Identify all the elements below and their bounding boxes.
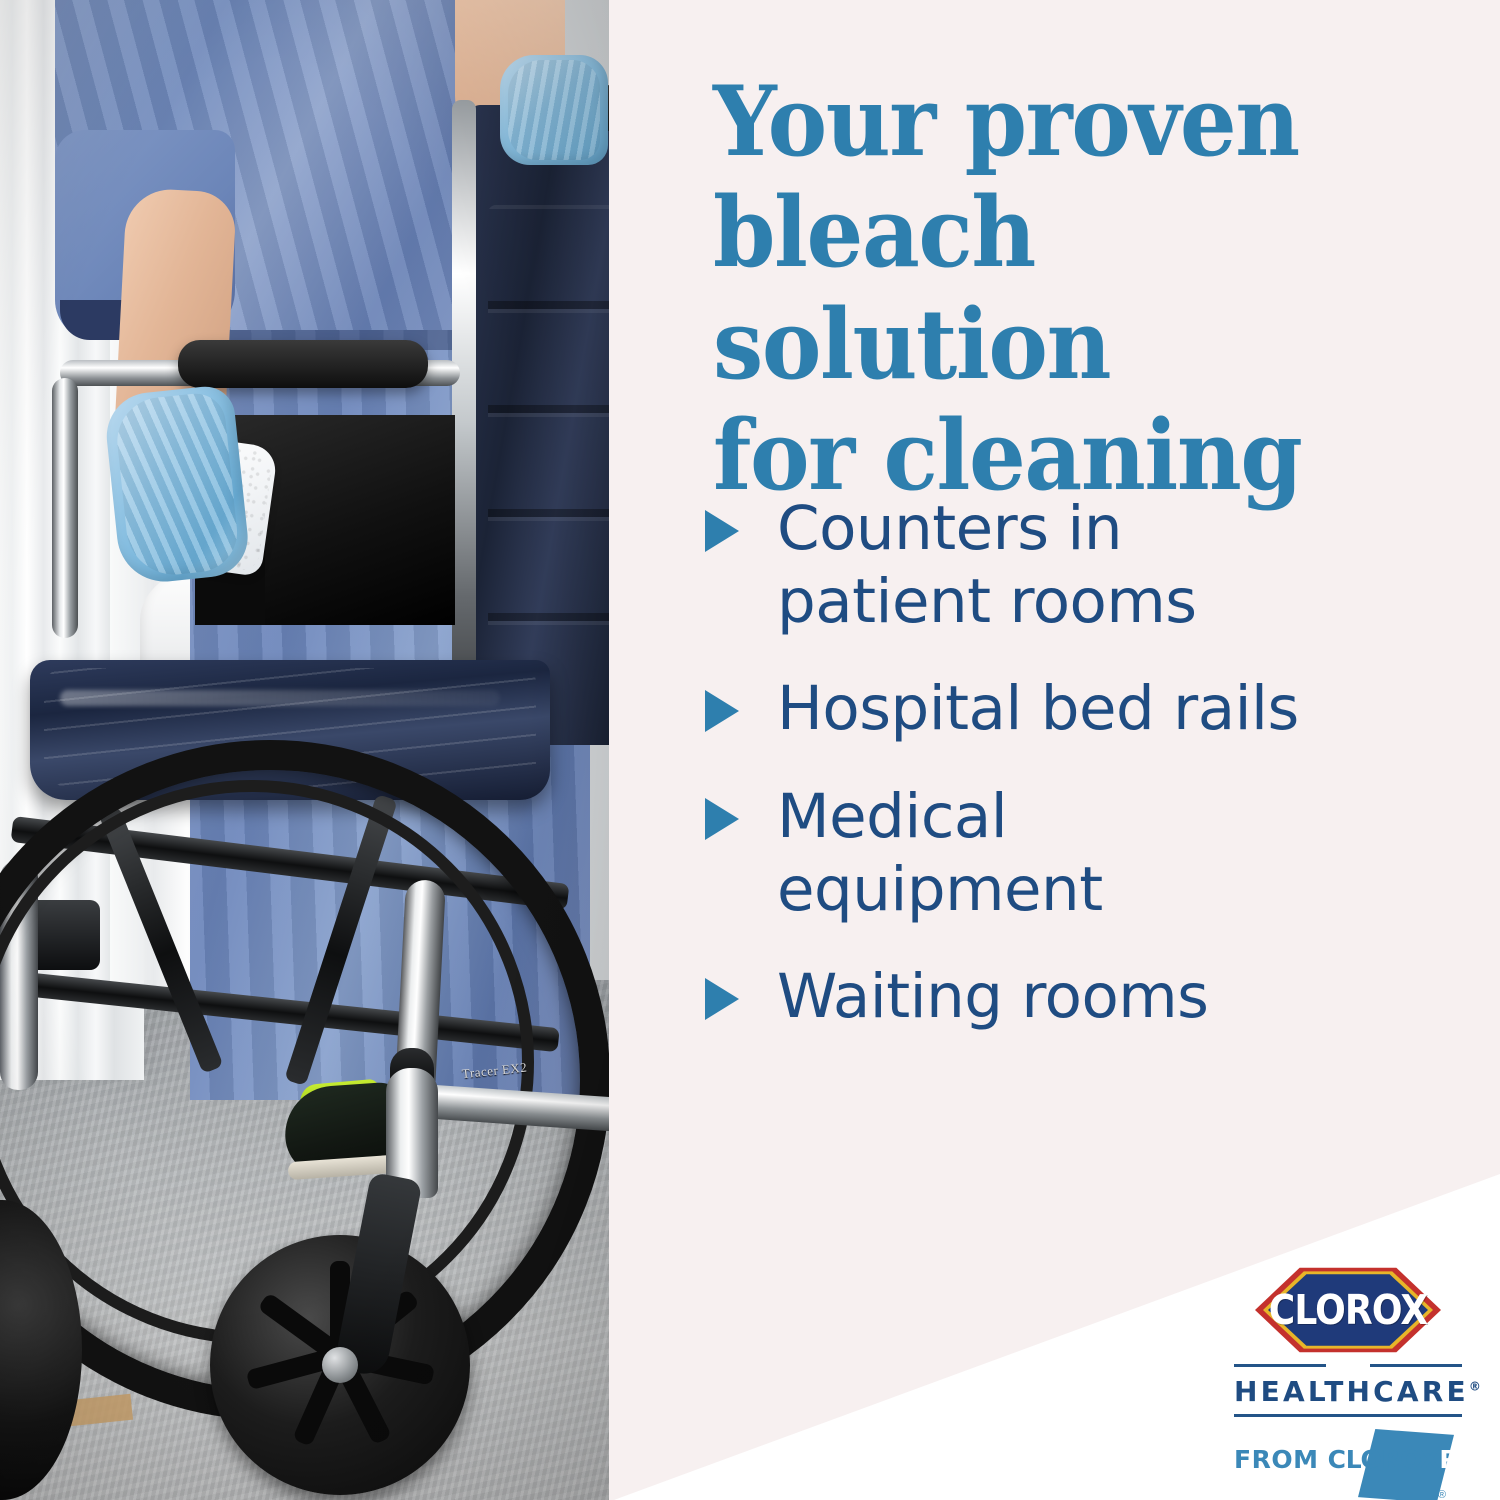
from-label: FROM: [1234, 1445, 1328, 1474]
wheelchair-seat-highlight: [60, 690, 500, 706]
cloroxpro-text: FROM CLOROXPRO: [1234, 1445, 1497, 1474]
hero-photo: Tracer EX2: [0, 0, 609, 1500]
list-item: Hospital bed rails: [705, 672, 1465, 745]
healthcare-rule-bottom: [1234, 1414, 1462, 1417]
healthcare-label: HEALTHCARE: [1234, 1375, 1469, 1408]
use-case-list: Counters in patient rooms Hospital bed r…: [705, 492, 1465, 1033]
triangle-right-icon: [705, 798, 739, 840]
wheelchair-armrest-pad: [178, 340, 428, 388]
triangle-right-icon: [705, 978, 739, 1020]
headline-line-2: bleach solution: [713, 177, 1420, 400]
clorox-healthcare-logo: CLOROX HEALTHCARE® FROM CLOROXPRO ®: [1234, 1262, 1462, 1495]
cloroxpro-clorox-label: CLOROX: [1328, 1445, 1440, 1474]
wheelchair-backrest: [470, 105, 609, 745]
triangle-right-icon: [705, 510, 739, 552]
caster-hub: [322, 1347, 358, 1383]
headline-line-1: Your proven: [713, 66, 1420, 177]
healthcare-wordmark: HEALTHCARE®: [1234, 1367, 1462, 1414]
registered-mark: ®: [1469, 1380, 1481, 1394]
list-item: Counters in patient rooms: [705, 492, 1465, 638]
triangle-right-icon: [705, 690, 739, 732]
cloroxpro-registered-mark: ®: [1438, 1489, 1446, 1500]
list-item-label: Counters in patient rooms: [777, 492, 1337, 638]
page-title: Your proven bleach solution for cleaning: [713, 66, 1420, 511]
clorox-wordmark: CLOROX: [1266, 1286, 1430, 1334]
nurse-glove-upper: [500, 55, 608, 165]
nurse-glove-lower: [102, 384, 251, 587]
ad-canvas: Tracer EX2 Your proven bleach solution f…: [0, 0, 1500, 1500]
clorox-diamond-icon: CLOROX: [1255, 1262, 1441, 1358]
wheelchair-push-tube: [452, 100, 476, 720]
list-item: Medical equipment: [705, 780, 1465, 926]
list-item-label: Medical equipment: [777, 780, 1337, 926]
list-item: Waiting rooms: [705, 960, 1465, 1033]
wheelchair-arm-tube-left: [52, 378, 78, 638]
cloroxpro-endorsement: FROM CLOROXPRO ®: [1234, 1433, 1462, 1495]
list-item-label: Hospital bed rails: [777, 672, 1299, 745]
list-item-label: Waiting rooms: [777, 960, 1208, 1033]
cloroxpro-pro-label: PRO: [1439, 1445, 1497, 1474]
